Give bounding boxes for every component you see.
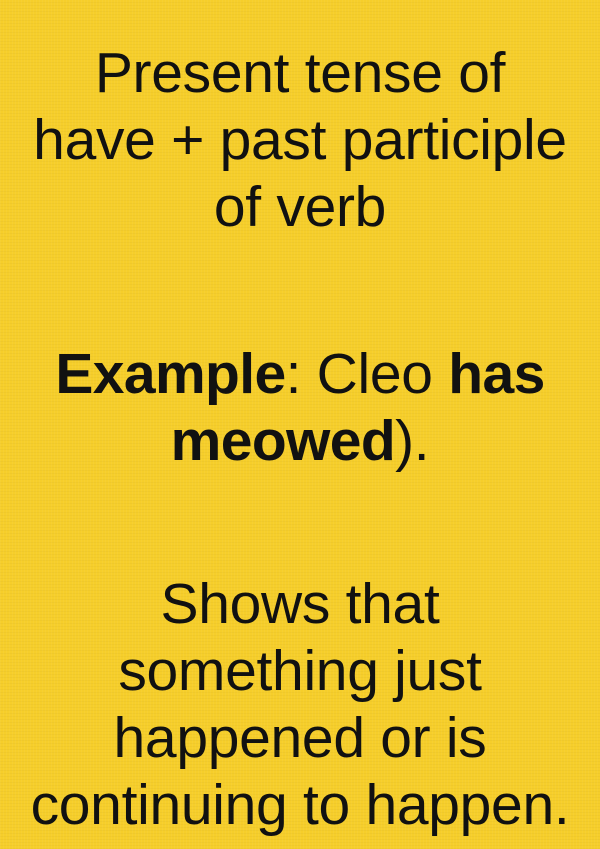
grammar-card: Present tense of have + past participle …: [0, 0, 600, 849]
example-participle: meowed: [171, 409, 395, 473]
spacer-one: [30, 241, 570, 341]
definition-text: Present tense of have + past participle …: [30, 40, 570, 241]
usage-text: Shows that something just happened or is…: [30, 571, 570, 839]
example-auxiliary-verb: has: [448, 342, 544, 406]
example-text: Example: Cleo has meowed).: [30, 341, 570, 475]
card-content: Present tense of have + past participle …: [30, 40, 570, 839]
example-separator: :: [286, 342, 302, 406]
example-label: Example: [55, 342, 285, 406]
spacer-two: [30, 475, 570, 571]
example-trailing-punctuation: ).: [395, 409, 429, 473]
example-subject: Cleo: [301, 342, 448, 406]
